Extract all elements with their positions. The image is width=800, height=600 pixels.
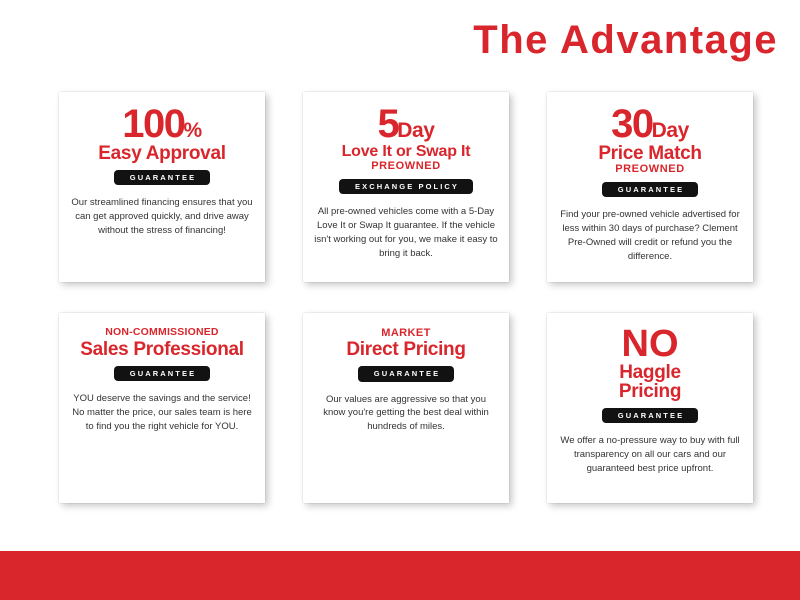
card-subhead: Love It or Swap It bbox=[342, 144, 471, 160]
card-headline: NO Haggle Pricing bbox=[558, 327, 742, 401]
card-badge: GUARANTEE bbox=[602, 408, 698, 424]
card-hero: 5 Day bbox=[377, 106, 434, 143]
advantage-card-30-day-price-match[interactable]: 30 Day Price Match PREOWNED GUARANTEE Fi… bbox=[547, 92, 753, 282]
card-badge: GUARANTEE bbox=[358, 366, 454, 382]
card-subhead: Haggle Pricing bbox=[595, 363, 705, 401]
advantage-page: The Advantage 100 % Easy Approval GUARAN… bbox=[0, 0, 800, 600]
card-badge: GUARANTEE bbox=[114, 366, 210, 382]
page-header: The Advantage bbox=[0, 0, 800, 80]
card-body-text: We offer a no-pressure way to buy with f… bbox=[558, 434, 742, 475]
card-badge: GUARANTEE bbox=[114, 170, 210, 186]
card-eyebrow: NON-COMMISSIONED bbox=[105, 327, 218, 339]
card-hero: 30 Day bbox=[611, 106, 689, 143]
card-hero-big: NO bbox=[622, 327, 679, 362]
advantage-card-no-haggle-pricing[interactable]: NO Haggle Pricing GUARANTEE We offer a n… bbox=[547, 313, 753, 503]
card-eyebrow: MARKET bbox=[381, 327, 430, 339]
card-body-text: YOU deserve the savings and the service!… bbox=[70, 392, 254, 433]
card-body-text: Find your pre-owned vehicle advertised f… bbox=[558, 208, 742, 263]
card-hero: NO bbox=[622, 327, 679, 362]
card-headline: 30 Day Price Match PREOWNED bbox=[558, 106, 742, 175]
advantage-card-direct-pricing[interactable]: MARKET Direct Pricing GUARANTEE Our valu… bbox=[303, 313, 509, 503]
card-subhead: Price Match bbox=[598, 144, 701, 163]
page-title: The Advantage bbox=[473, 20, 778, 60]
card-hero-big: 30 bbox=[611, 106, 653, 143]
card-hero-big: 100 bbox=[122, 106, 184, 143]
card-subhead: Direct Pricing bbox=[346, 340, 465, 359]
card-tagline: PREOWNED bbox=[615, 163, 685, 175]
card-hero-big: 5 bbox=[377, 106, 398, 143]
footer-red-bar bbox=[0, 551, 800, 600]
card-tagline: PREOWNED bbox=[371, 160, 441, 172]
card-body-text: Our streamlined financing ensures that y… bbox=[70, 196, 254, 237]
card-badge: GUARANTEE bbox=[602, 182, 698, 198]
advantage-card-grid: 100 % Easy Approval GUARANTEE Our stream… bbox=[59, 92, 753, 503]
card-body-text: All pre-owned vehicles come with a 5-Day… bbox=[314, 205, 498, 260]
card-headline: NON-COMMISSIONED Sales Professional bbox=[70, 327, 254, 359]
advantage-card-5-day-swap[interactable]: 5 Day Love It or Swap It PREOWNED EXCHAN… bbox=[303, 92, 509, 282]
advantage-card-sales-professional[interactable]: NON-COMMISSIONED Sales Professional GUAR… bbox=[59, 313, 265, 503]
card-badge: EXCHANGE POLICY bbox=[339, 179, 473, 195]
card-headline: 100 % Easy Approval bbox=[70, 106, 254, 163]
card-subhead: Sales Professional bbox=[80, 340, 244, 359]
card-hero-suffix: Day bbox=[397, 121, 434, 140]
card-headline: 5 Day Love It or Swap It PREOWNED bbox=[314, 106, 498, 172]
card-headline: MARKET Direct Pricing bbox=[314, 327, 498, 359]
card-hero-suffix: % bbox=[183, 121, 201, 140]
card-body-text: Our values are aggressive so that you kn… bbox=[314, 393, 498, 434]
card-hero-suffix: Day bbox=[652, 121, 689, 140]
advantage-card-easy-approval[interactable]: 100 % Easy Approval GUARANTEE Our stream… bbox=[59, 92, 265, 282]
card-subhead: Easy Approval bbox=[98, 144, 225, 163]
card-hero: 100 % bbox=[122, 106, 202, 143]
